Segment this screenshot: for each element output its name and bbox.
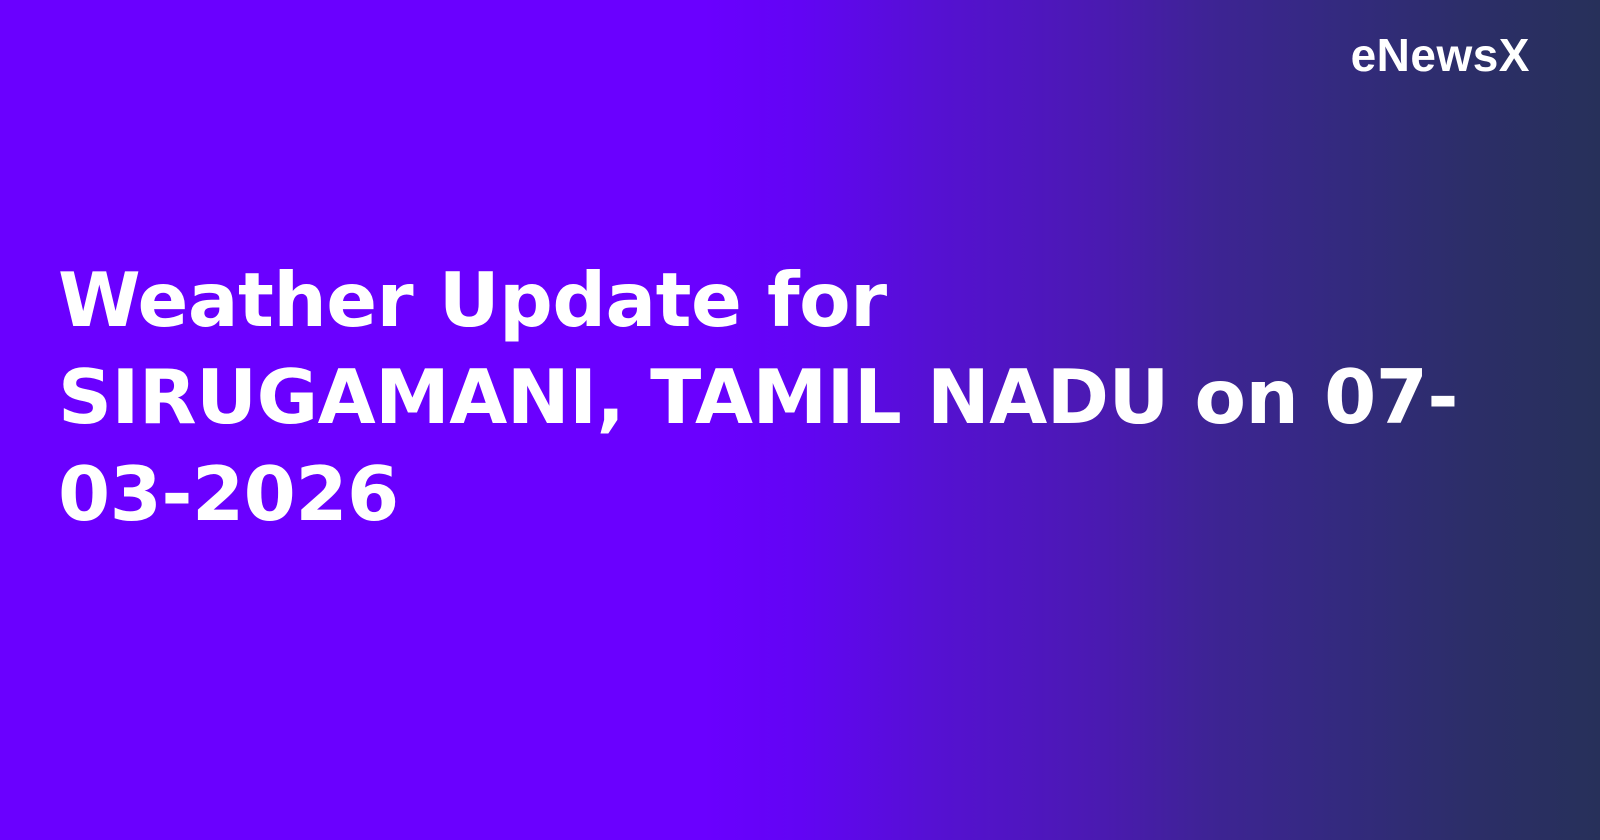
news-banner: eNewsX Weather Update for SIRUGAMANI, TA… [0,0,1600,840]
banner-header: eNewsX [0,0,1600,120]
page-title: Weather Update for SIRUGAMANI, TAMIL NAD… [58,252,1468,543]
brand-logo[interactable]: eNewsX [1351,32,1530,78]
headline-container: Weather Update for SIRUGAMANI, TAMIL NAD… [58,252,1468,543]
